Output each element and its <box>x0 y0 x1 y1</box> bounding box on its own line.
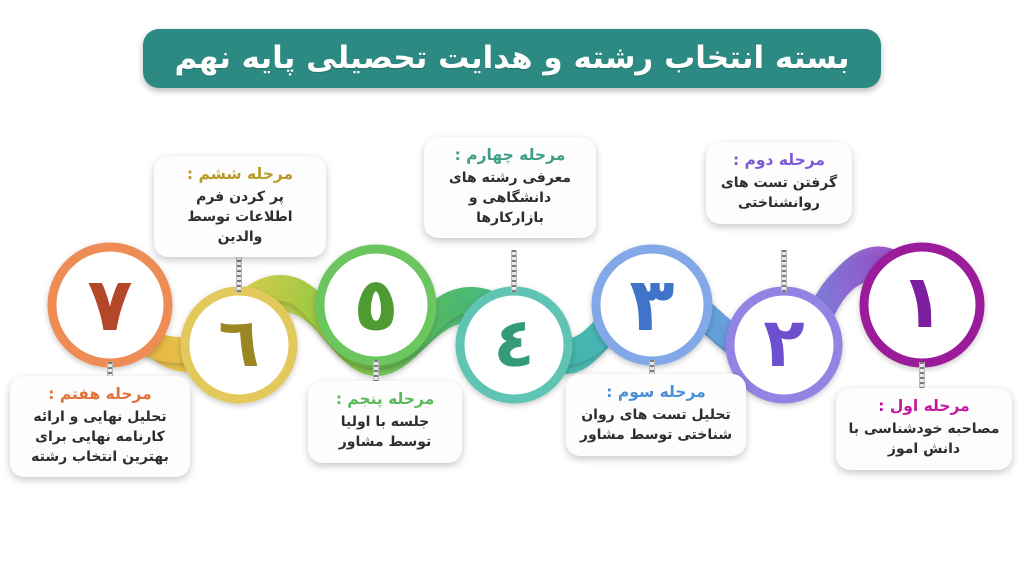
chain-connector-2 <box>781 250 787 292</box>
step-numeral-2: ٢ <box>738 310 830 378</box>
step-card-5-body: جلسه با اولیا توسط مشاور <box>320 413 450 453</box>
step-card-6[interactable]: مرحله ششم : پر کردن فرم اطلاعات توسط وال… <box>154 156 326 257</box>
step-card-2-body: گرفتن تست های روانشناختی <box>718 174 840 214</box>
step-card-2-title: مرحله دوم : <box>718 151 840 171</box>
step-card-3[interactable]: مرحله سوم : تحلیل تست های روان شناختی تو… <box>566 374 746 456</box>
step-numeral-5: ٥ <box>330 268 422 342</box>
step-numeral-4: ٤ <box>468 310 560 378</box>
step-card-6-body: پر کردن فرم اطلاعات توسط والدین <box>166 188 314 248</box>
step-card-7-title: مرحله هفتم : <box>22 385 178 405</box>
step-card-7-body: تحلیل نهایی و ارائه کارنامه نهایی برای ب… <box>22 408 178 468</box>
step-card-4-title: مرحله چهارم : <box>436 146 584 166</box>
step-card-4[interactable]: مرحله چهارم : معرفی رشته های دانشگاهی و … <box>424 137 596 238</box>
step-numeral-6: ٦ <box>193 310 285 378</box>
page-title: بسته انتخاب رشته و هدایت تحصیلی پایه نهم <box>174 43 849 74</box>
step-numeral-1: ١ <box>876 265 968 339</box>
step-numeral-3: ٣ <box>606 268 698 342</box>
title-banner: بسته انتخاب رشته و هدایت تحصیلی پایه نهم <box>143 29 881 88</box>
step-card-1-title: مرحله اول : <box>848 397 1000 417</box>
chain-connector-4 <box>511 250 517 292</box>
infographic-root: بسته انتخاب رشته و هدایت تحصیلی پایه نهم <box>0 0 1024 573</box>
step-card-3-body: تحلیل تست های روان شناختی توسط مشاور <box>578 406 734 446</box>
step-card-5-title: مرحله پنجم : <box>320 390 450 410</box>
step-card-6-title: مرحله ششم : <box>166 165 314 185</box>
step-card-7[interactable]: مرحله هفتم : تحلیل نهایی و ارائه کارنامه… <box>10 376 190 477</box>
step-card-5[interactable]: مرحله پنجم : جلسه با اولیا توسط مشاور <box>308 381 462 463</box>
step-card-1-body: مصاحبه خودشناسی با دانش اموز <box>848 420 1000 460</box>
step-card-1[interactable]: مرحله اول : مصاحبه خودشناسی با دانش اموز <box>836 388 1012 470</box>
step-card-3-title: مرحله سوم : <box>578 383 734 403</box>
step-card-4-body: معرفی رشته های دانشگاهی و بازارکارها <box>436 169 584 229</box>
step-card-2[interactable]: مرحله دوم : گرفتن تست های روانشناختی <box>706 142 852 224</box>
step-numeral-7: ٧ <box>64 268 156 342</box>
